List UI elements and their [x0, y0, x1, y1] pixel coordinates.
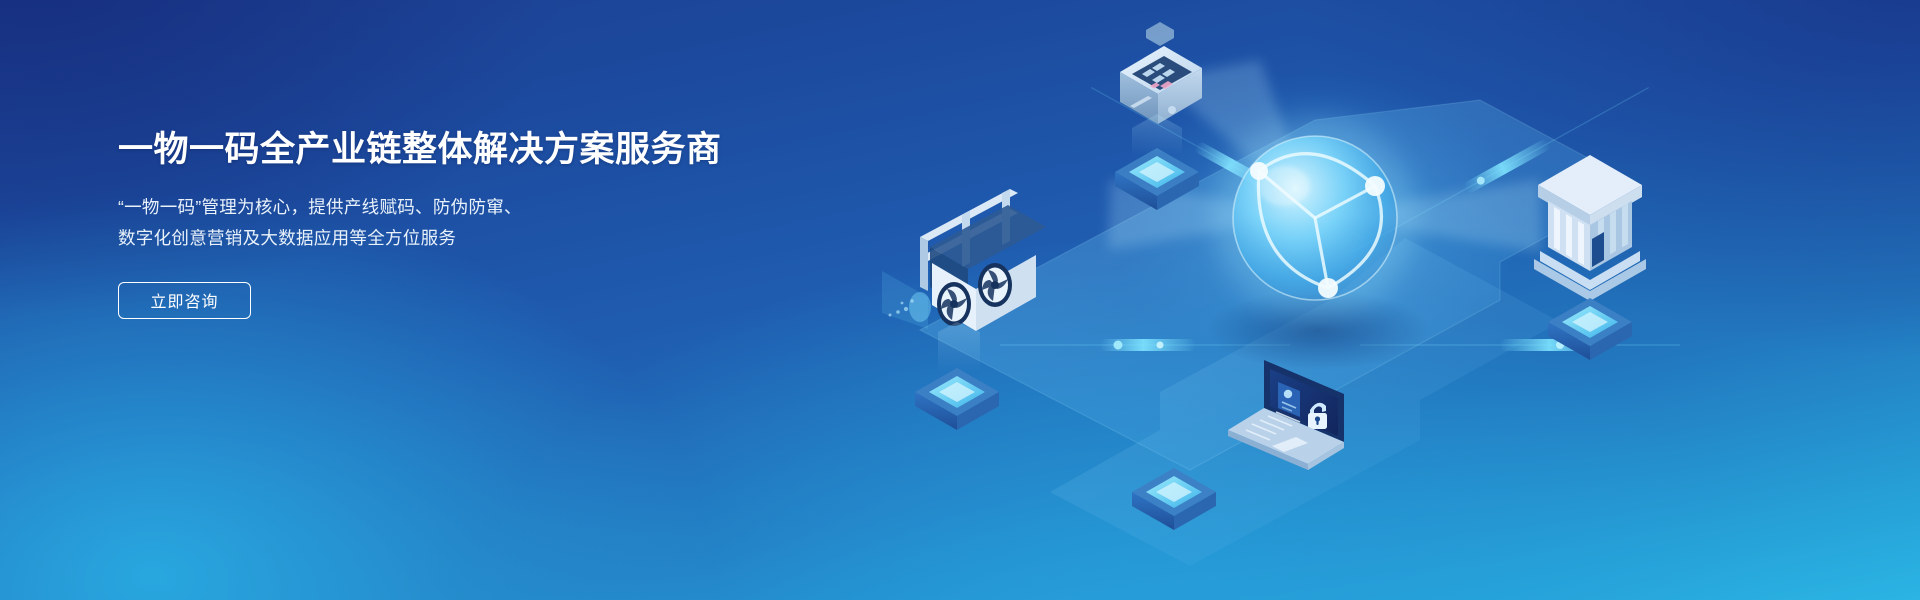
- hero-illustration: [860, 0, 1920, 600]
- hero-banner: 一物一码全产业链整体解决方案服务商 “一物一码”管理为核心，提供产线赋码、防伪防…: [0, 0, 1920, 600]
- server-beam: [938, 322, 980, 372]
- hero-subtitle: “一物一码”管理为核心，提供产线赋码、防伪防窜、 数字化创意营销及大数据应用等全…: [118, 192, 738, 254]
- hero-copy-block: 一物一码全产业链整体解决方案服务商 “一物一码”管理为核心，提供产线赋码、防伪防…: [118, 128, 738, 319]
- pedestal-node-icon-2: [915, 368, 999, 430]
- consult-now-button[interactable]: 立即咨询: [118, 282, 251, 319]
- hero-subtitle-line-2: 数字化创意营销及大数据应用等全方位服务: [118, 223, 738, 254]
- cta-container: 立即咨询: [118, 282, 738, 319]
- hero-subtitle-line-1: “一物一码”管理为核心，提供产线赋码、防伪防窜、: [118, 192, 738, 223]
- page-title: 一物一码全产业链整体解决方案服务商: [118, 128, 738, 172]
- network-globe-icon: [1213, 116, 1417, 320]
